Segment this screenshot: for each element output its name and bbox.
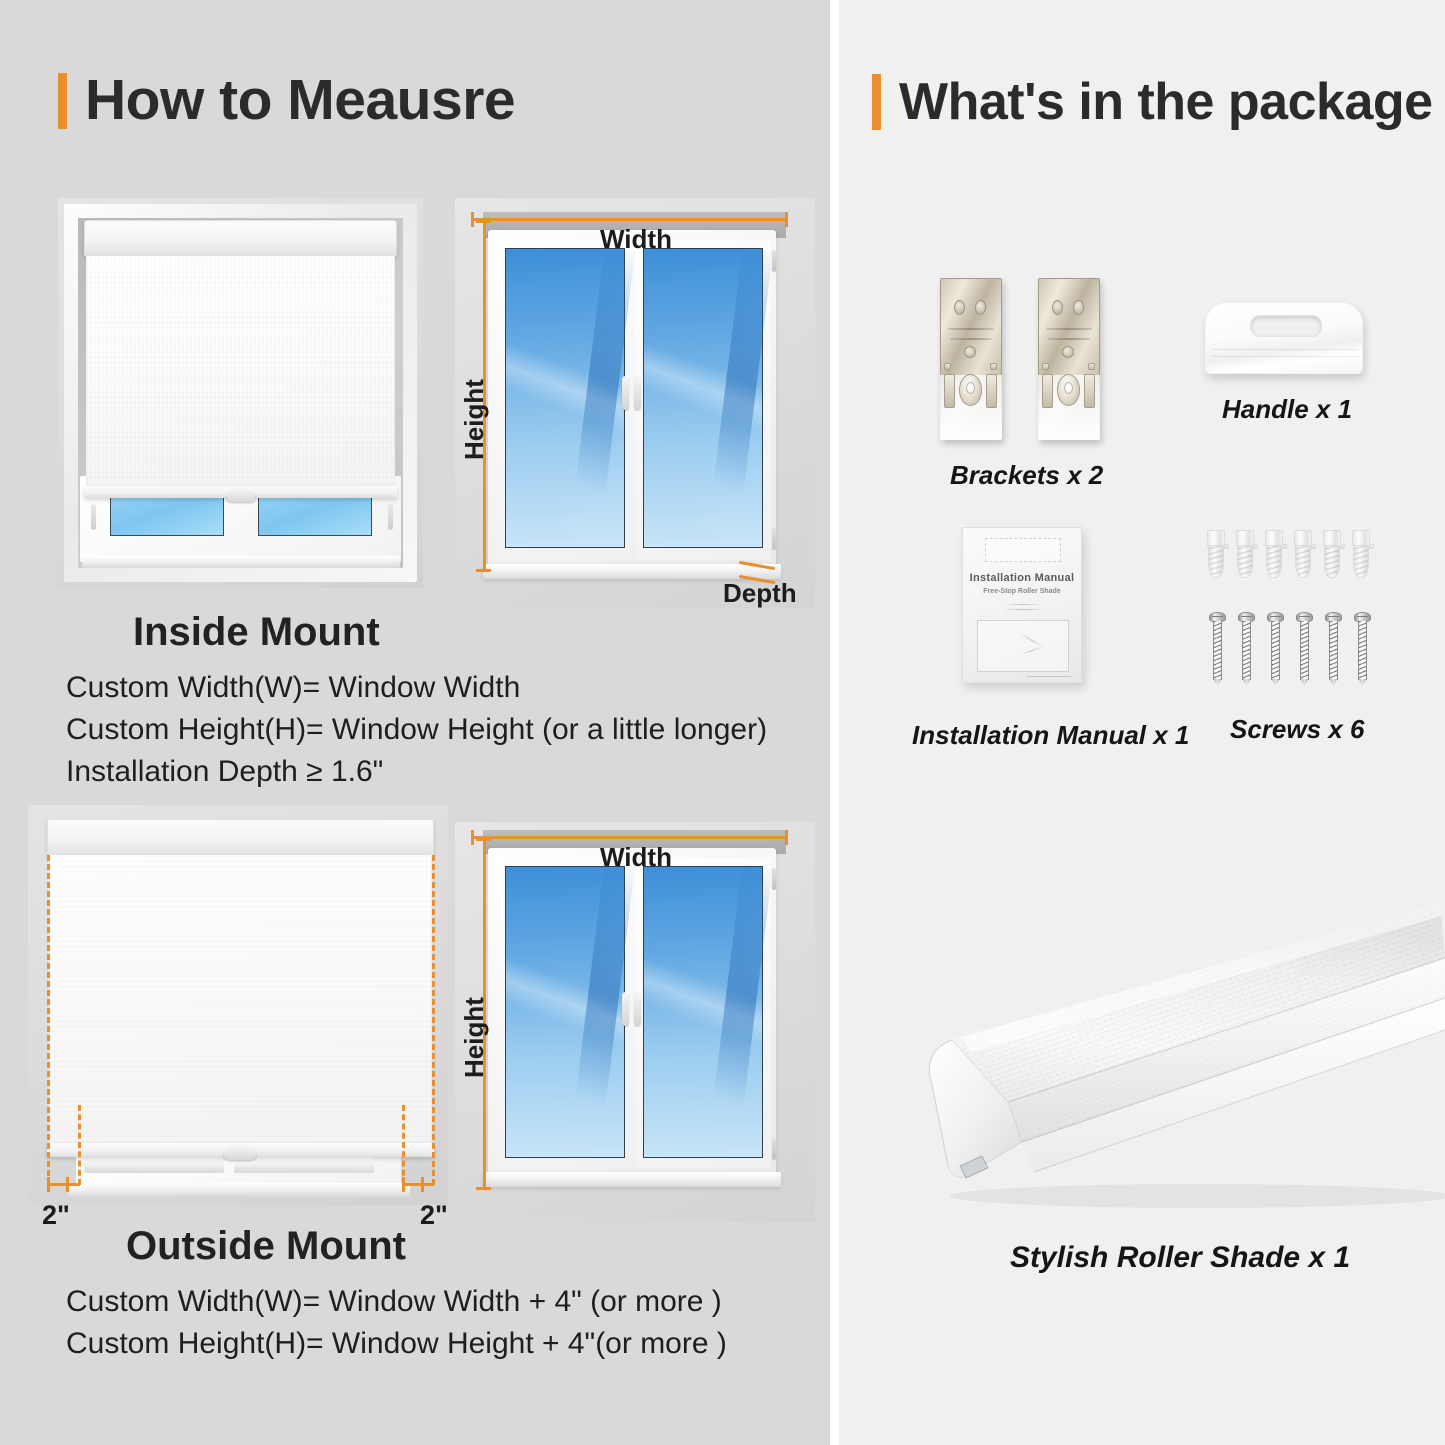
screw-3 (1267, 612, 1284, 686)
shade-headrail (84, 220, 397, 256)
accent-bar-icon (58, 73, 67, 129)
label-height: Height (461, 997, 487, 1078)
width-measure-cap-right (785, 212, 788, 227)
bracket-slot-left (944, 374, 955, 408)
width-measure-line (471, 836, 788, 839)
outside-mount-window-diagram: Width Height (455, 822, 815, 1222)
screw-1 (1209, 612, 1226, 686)
bracket-tab-left (1042, 363, 1049, 370)
window-edge-guide-right (402, 1105, 405, 1185)
label-depth: Depth (723, 580, 797, 606)
screw-6 (1354, 612, 1371, 686)
glass-highlight-right (706, 867, 772, 1157)
screw-tip (1329, 679, 1337, 686)
bracket-tab-right (1088, 363, 1095, 370)
wall-anchor-1 (1207, 530, 1225, 578)
brackets-label: Brackets x 2 (950, 462, 1103, 488)
outside-mount-shade-illustration (28, 805, 448, 1205)
anchor-head (1323, 530, 1341, 546)
installation-manual-label: Installation Manual x 1 (912, 722, 1189, 748)
overhang-cap-left-a (47, 1177, 50, 1192)
window-handle-right-icon (634, 376, 641, 410)
handle-seam-1 (1212, 349, 1358, 350)
window-glass-left (505, 866, 625, 1158)
screw-tip (1300, 679, 1308, 686)
width-measure-cap-right (785, 830, 788, 845)
bracket-hole-2 (975, 300, 986, 315)
screw-5 (1325, 612, 1342, 686)
screw-tip (1213, 679, 1221, 686)
window-handle-right-icon (634, 992, 641, 1026)
bracket-hole-3 (964, 346, 976, 358)
window-glass-right (643, 248, 763, 548)
bracket-rib-2 (950, 338, 992, 340)
shade-fabric (49, 855, 432, 1147)
screw-tip (1271, 679, 1279, 686)
inside-mount-spec-list: Custom Width(W)= Window Width Custom Hei… (66, 670, 767, 796)
overhang-guide-left (47, 855, 50, 1185)
bracket-center-oval-inner (1064, 382, 1073, 395)
window-pane-bottom-left (84, 1157, 224, 1173)
overhang-measure-left (48, 1183, 80, 1186)
bracket-center-oval (959, 374, 982, 406)
inside-mount-spec-depth: Installation Depth ≥ 1.6" (66, 754, 767, 790)
wall-anchor-6 (1352, 530, 1370, 578)
width-measure-cap-left (471, 212, 474, 227)
bracket-hole-2 (1073, 300, 1084, 315)
window-pane-bottom-right (234, 1157, 374, 1173)
anchor-head (1265, 530, 1283, 546)
height-measure-cap-top (476, 838, 491, 841)
accent-bar-icon-right (872, 74, 881, 130)
screw-shaft (1329, 621, 1337, 680)
anchor-head (1236, 530, 1254, 546)
wall-anchor-2 (1236, 530, 1254, 578)
window-handle-left-icon (91, 504, 96, 530)
bracket-slot-right (1084, 374, 1095, 408)
wall-anchor-4 (1294, 530, 1312, 578)
bracket-item-1 (940, 278, 1002, 440)
inside-mount-spec-height: Custom Height(H)= Window Height (or a li… (66, 712, 767, 748)
bracket-hole-1 (1052, 300, 1063, 315)
bracket-slot-right (986, 374, 997, 408)
handle-grip-slot (1250, 315, 1322, 337)
inside-mount-spec-width: Custom Width(W)= Window Width (66, 670, 767, 706)
shade-pull-handle (224, 1147, 256, 1160)
window-hinge-bottom-icon (772, 1138, 776, 1160)
anchor-tab (1253, 544, 1258, 548)
window-sill (68, 1183, 410, 1197)
shade-fabric (86, 256, 395, 488)
anchor-body (1237, 545, 1252, 578)
anchor-tab (1282, 544, 1287, 548)
manual-cover-title: Installation Manual (963, 572, 1081, 584)
anchor-head (1294, 530, 1312, 546)
overhang-cap-left-b (66, 1177, 69, 1192)
inside-mount-shade-illustration (58, 198, 423, 588)
screw-tip (1358, 679, 1366, 686)
anchor-body (1208, 545, 1223, 578)
label-width: Width (600, 844, 672, 870)
anchor-body (1266, 545, 1281, 578)
bracket-tab-right (990, 363, 997, 370)
label-width: Width (600, 226, 672, 252)
screw-tip (1242, 679, 1250, 686)
window-sill (483, 1172, 781, 1187)
bracket-hole-3 (1062, 346, 1074, 358)
manual-diagram-box (977, 620, 1069, 672)
bracket-hole-1 (954, 300, 965, 315)
outside-mount-spec-width: Custom Width(W)= Window Width + 4" (or m… (66, 1284, 727, 1320)
panel-divider (830, 0, 839, 1445)
bracket-center-oval (1057, 374, 1080, 406)
overhang-cap-right-a (402, 1177, 405, 1192)
screw-2 (1238, 612, 1255, 686)
manual-footer-line (1027, 676, 1071, 677)
roller-shade-label: Stylish Roller Shade x 1 (1010, 1243, 1350, 1273)
height-measure-cap-top (476, 220, 491, 223)
roller-shade-graphic (900, 880, 1445, 1225)
manual-header-block (985, 538, 1061, 562)
anchor-tab (1224, 544, 1229, 548)
screws-label: Screws x 6 (1230, 716, 1364, 742)
anchor-body (1295, 545, 1310, 578)
overhang-measure-right (402, 1183, 434, 1186)
glass-pane-left (110, 494, 224, 536)
width-measure-line (471, 218, 788, 221)
glass-pane-right (258, 494, 372, 536)
bracket-item-2 (1038, 278, 1100, 440)
outside-mount-spec-height: Custom Height(H)= Window Height + 4"(or … (66, 1326, 727, 1362)
height-measure-cap-bottom (476, 569, 491, 572)
screw-shaft (1271, 621, 1279, 680)
anchor-tab (1369, 544, 1374, 548)
overhang-cap-right-b (421, 1177, 424, 1192)
manual-cover-subtitle: Free-Stop Roller Shade (963, 588, 1081, 595)
infographic-page: How to Meausre What's in the package (0, 0, 1445, 1445)
bracket-tab-left (944, 363, 951, 370)
inside-mount-window-diagram: Width Height Depth (455, 198, 815, 608)
wall-anchor-5 (1323, 530, 1341, 578)
outside-mount-title: Outside Mount (126, 1226, 406, 1266)
bracket-slot-left (1042, 374, 1053, 408)
handle-item (1205, 302, 1363, 374)
window-hinge-bottom-icon (772, 528, 776, 550)
anchor-tab (1340, 544, 1345, 548)
window-sill (483, 564, 781, 579)
window-hinge-top-icon (772, 868, 776, 890)
window-handle-left-icon (622, 376, 629, 410)
overhang-guide-right (432, 855, 435, 1185)
anchor-tab (1311, 544, 1316, 548)
screw-shaft (1213, 621, 1221, 680)
manual-scribble-2 (1001, 609, 1045, 610)
window-handle-left-icon (622, 992, 629, 1026)
page-title-whats-in-package: What's in the package (872, 74, 1433, 130)
installation-manual-item: Installation Manual Free-Stop Roller Sha… (962, 527, 1082, 683)
bracket-rib-1 (1046, 328, 1092, 330)
height-measure-cap-bottom (476, 1187, 491, 1190)
label-height: Height (461, 379, 487, 460)
shade-headrail (47, 819, 434, 855)
screw-shaft (1300, 621, 1308, 680)
bracket-rib-1 (948, 328, 994, 330)
window-glass-right (643, 866, 763, 1158)
handle-seam-2 (1212, 356, 1358, 357)
handle-label: Handle x 1 (1222, 396, 1352, 422)
wall-anchor-3 (1265, 530, 1283, 578)
manual-scribble-1 (1005, 604, 1041, 605)
anchor-head (1207, 530, 1225, 546)
bracket-center-oval-inner (966, 382, 975, 395)
window-handle-right-icon (388, 504, 393, 530)
anchor-body (1324, 545, 1339, 578)
screw-4 (1296, 612, 1313, 686)
window-sill (82, 556, 400, 568)
anchor-head (1352, 530, 1370, 546)
how-to-measure-title-text: How to Meausre (85, 72, 515, 129)
anchor-body (1353, 545, 1368, 578)
outside-mount-spec-list: Custom Width(W)= Window Width + 4" (or m… (66, 1284, 727, 1368)
screw-shaft (1358, 621, 1366, 680)
window-edge-guide-left (78, 1105, 81, 1185)
overhang-label-right: 2" (420, 1202, 448, 1229)
overhang-label-left: 2" (42, 1202, 70, 1229)
shade-pull-handle (227, 490, 255, 502)
whats-in-package-title-text: What's in the package (899, 76, 1433, 128)
page-title-how-to-measure: How to Meausre (58, 72, 515, 129)
inside-mount-title: Inside Mount (133, 612, 380, 652)
window-glass-left (505, 248, 625, 548)
bracket-rib-2 (1048, 338, 1090, 340)
width-measure-cap-left (471, 830, 474, 845)
roller-shade-item (900, 880, 1445, 1225)
screw-shaft (1242, 621, 1250, 680)
window-hinge-top-icon (772, 250, 776, 272)
